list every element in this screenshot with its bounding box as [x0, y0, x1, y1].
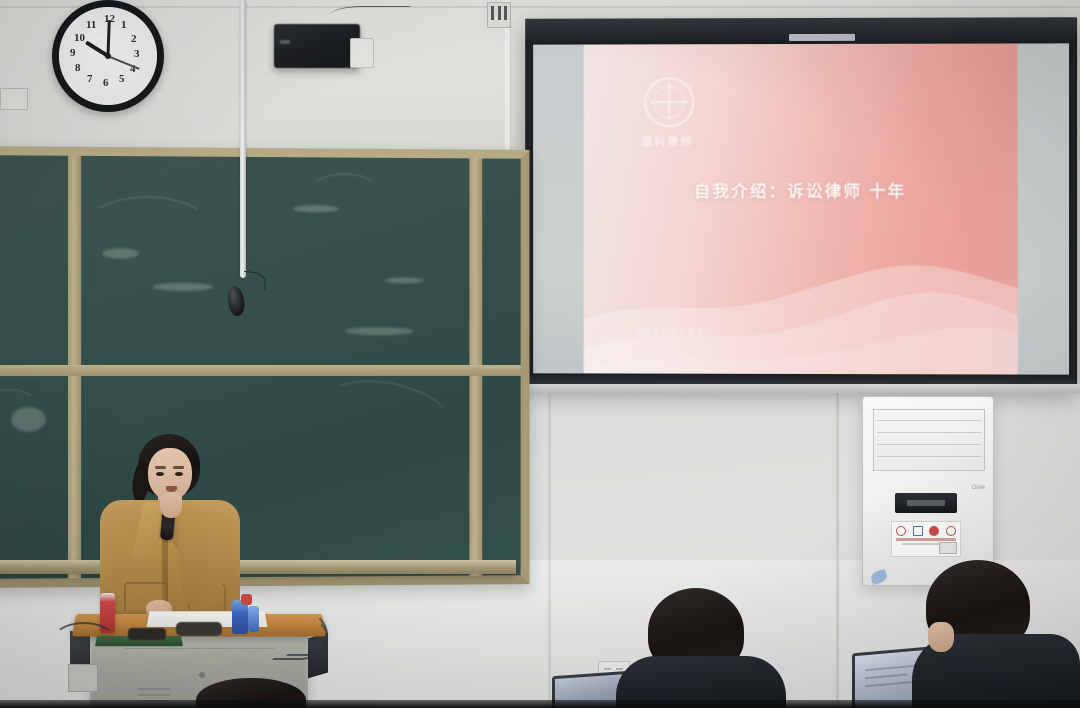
chalk-arc-2: [309, 173, 381, 211]
wall-corner-edge-left: [548, 392, 551, 708]
slide-footer-text: 湖南盈科律师事务所: [635, 326, 712, 337]
blackboard-surface: [0, 155, 521, 579]
presenter-arm-right: [177, 511, 223, 606]
clock-numeral-1: 1: [121, 19, 127, 31]
desk-object-dark-1: [128, 628, 166, 640]
chalk-arc-1: [86, 196, 209, 257]
screen-top-bar: [525, 17, 1077, 44]
ac-air-outlet-grill: [873, 409, 985, 471]
slide-logo-text: 盈科律师: [641, 133, 693, 149]
screen-wall-rail: [520, 384, 1080, 393]
presenter-eye-right: [175, 472, 183, 476]
slide-title: 自我介绍：诉讼律师 十年: [584, 178, 1018, 202]
chalk-smudge-4: [384, 277, 424, 283]
blue-marker-2: [248, 606, 259, 632]
warning-filled-icon: [929, 526, 939, 536]
slide-seal-logo-inner: [653, 86, 685, 118]
laptop-right-text-line-2: [865, 674, 907, 679]
clock-numeral-2: 2: [131, 33, 137, 45]
lectern-control-panel[interactable]: [68, 664, 98, 692]
slide-wave-decoration: [584, 248, 1018, 374]
student-right: [912, 560, 1080, 708]
photo-bottom-band: [0, 700, 1080, 708]
ac-sticker-icons: [896, 525, 956, 536]
clock-numeral-6: 6: [103, 77, 109, 89]
ac-sticker-qr-box: [939, 542, 957, 554]
warning-circle-icon-2: [946, 526, 956, 536]
outlet-plate: [350, 38, 374, 68]
wall-speaker-box: [274, 24, 360, 68]
slide-seal-logo-icon: [644, 77, 694, 127]
projection-screen: 盈科律师 自我介绍：诉讼律师 十年 湖南盈科律师事务所: [525, 17, 1077, 387]
screen-surface: 盈科律师 自我介绍：诉讼律师 十年 湖南盈科律师事务所: [533, 43, 1069, 374]
clock-numeral-10: 10: [74, 32, 85, 44]
blackboard-chalk-ledge: [0, 560, 516, 574]
wall-clock: 12 1 2 3 4 5 6 7 8 9 10 11: [52, 0, 164, 112]
presenter-brow-left: [155, 466, 166, 469]
presenter-brow-right: [173, 466, 184, 469]
clock-numeral-8: 8: [75, 62, 81, 74]
desk-object-dark-2: [176, 622, 222, 636]
chalk-smudge-6: [345, 327, 414, 335]
clock-numeral-11: 11: [86, 19, 96, 31]
lectern-vent-1: [138, 688, 170, 690]
clock-numeral-9: 9: [70, 47, 76, 59]
lectern-vent-2: [138, 694, 170, 696]
projected-slide: 盈科律师 自我介绍：诉讼律师 十年 湖南盈科律师事务所: [584, 43, 1018, 374]
student-center: [616, 588, 786, 708]
warning-square-icon: [913, 526, 923, 536]
clock-numeral-7: 7: [87, 73, 93, 85]
wall-plate: [0, 88, 28, 110]
presenter: [96, 434, 244, 634]
screen-roller-nub: [789, 34, 855, 41]
air-conditioner: Gree: [862, 396, 994, 586]
speaker-cable: [330, 6, 411, 29]
presenter-hand-right: [160, 492, 182, 518]
hanging-microphone-pole: [240, 0, 246, 278]
warning-circle-icon: [896, 526, 906, 536]
desk-cable-right-2: [286, 618, 328, 656]
ceiling-line: [0, 6, 1080, 8]
blackboard-divider-h1: [0, 365, 521, 376]
chalk-arc-3: [318, 370, 459, 458]
presenter-eye-left: [156, 472, 164, 476]
blackboard: [0, 146, 529, 588]
wall-switch-fixture[interactable]: [487, 2, 511, 28]
clock-numeral-5: 5: [119, 73, 125, 85]
clock-center-pin: [105, 53, 111, 59]
ac-sticker-headline: [896, 538, 956, 541]
student-right-hand: [928, 622, 954, 652]
desk-cable-left: [52, 622, 116, 660]
laptop-right-text-line-1: [865, 664, 919, 670]
ac-display-panel[interactable]: [895, 493, 957, 513]
classroom-photo: 12 1 2 3 4 5 6 7 8 9 10 11: [0, 0, 1080, 708]
chalk-smudge-2: [153, 283, 213, 291]
red-marker-cap: [241, 594, 252, 605]
blue-marker-1: [232, 600, 248, 634]
ac-brand-mark: Gree: [972, 485, 985, 491]
wall-corner-edge-right: [836, 390, 839, 708]
ac-safety-sticker: [891, 521, 961, 557]
clock-numeral-3: 3: [134, 48, 140, 60]
